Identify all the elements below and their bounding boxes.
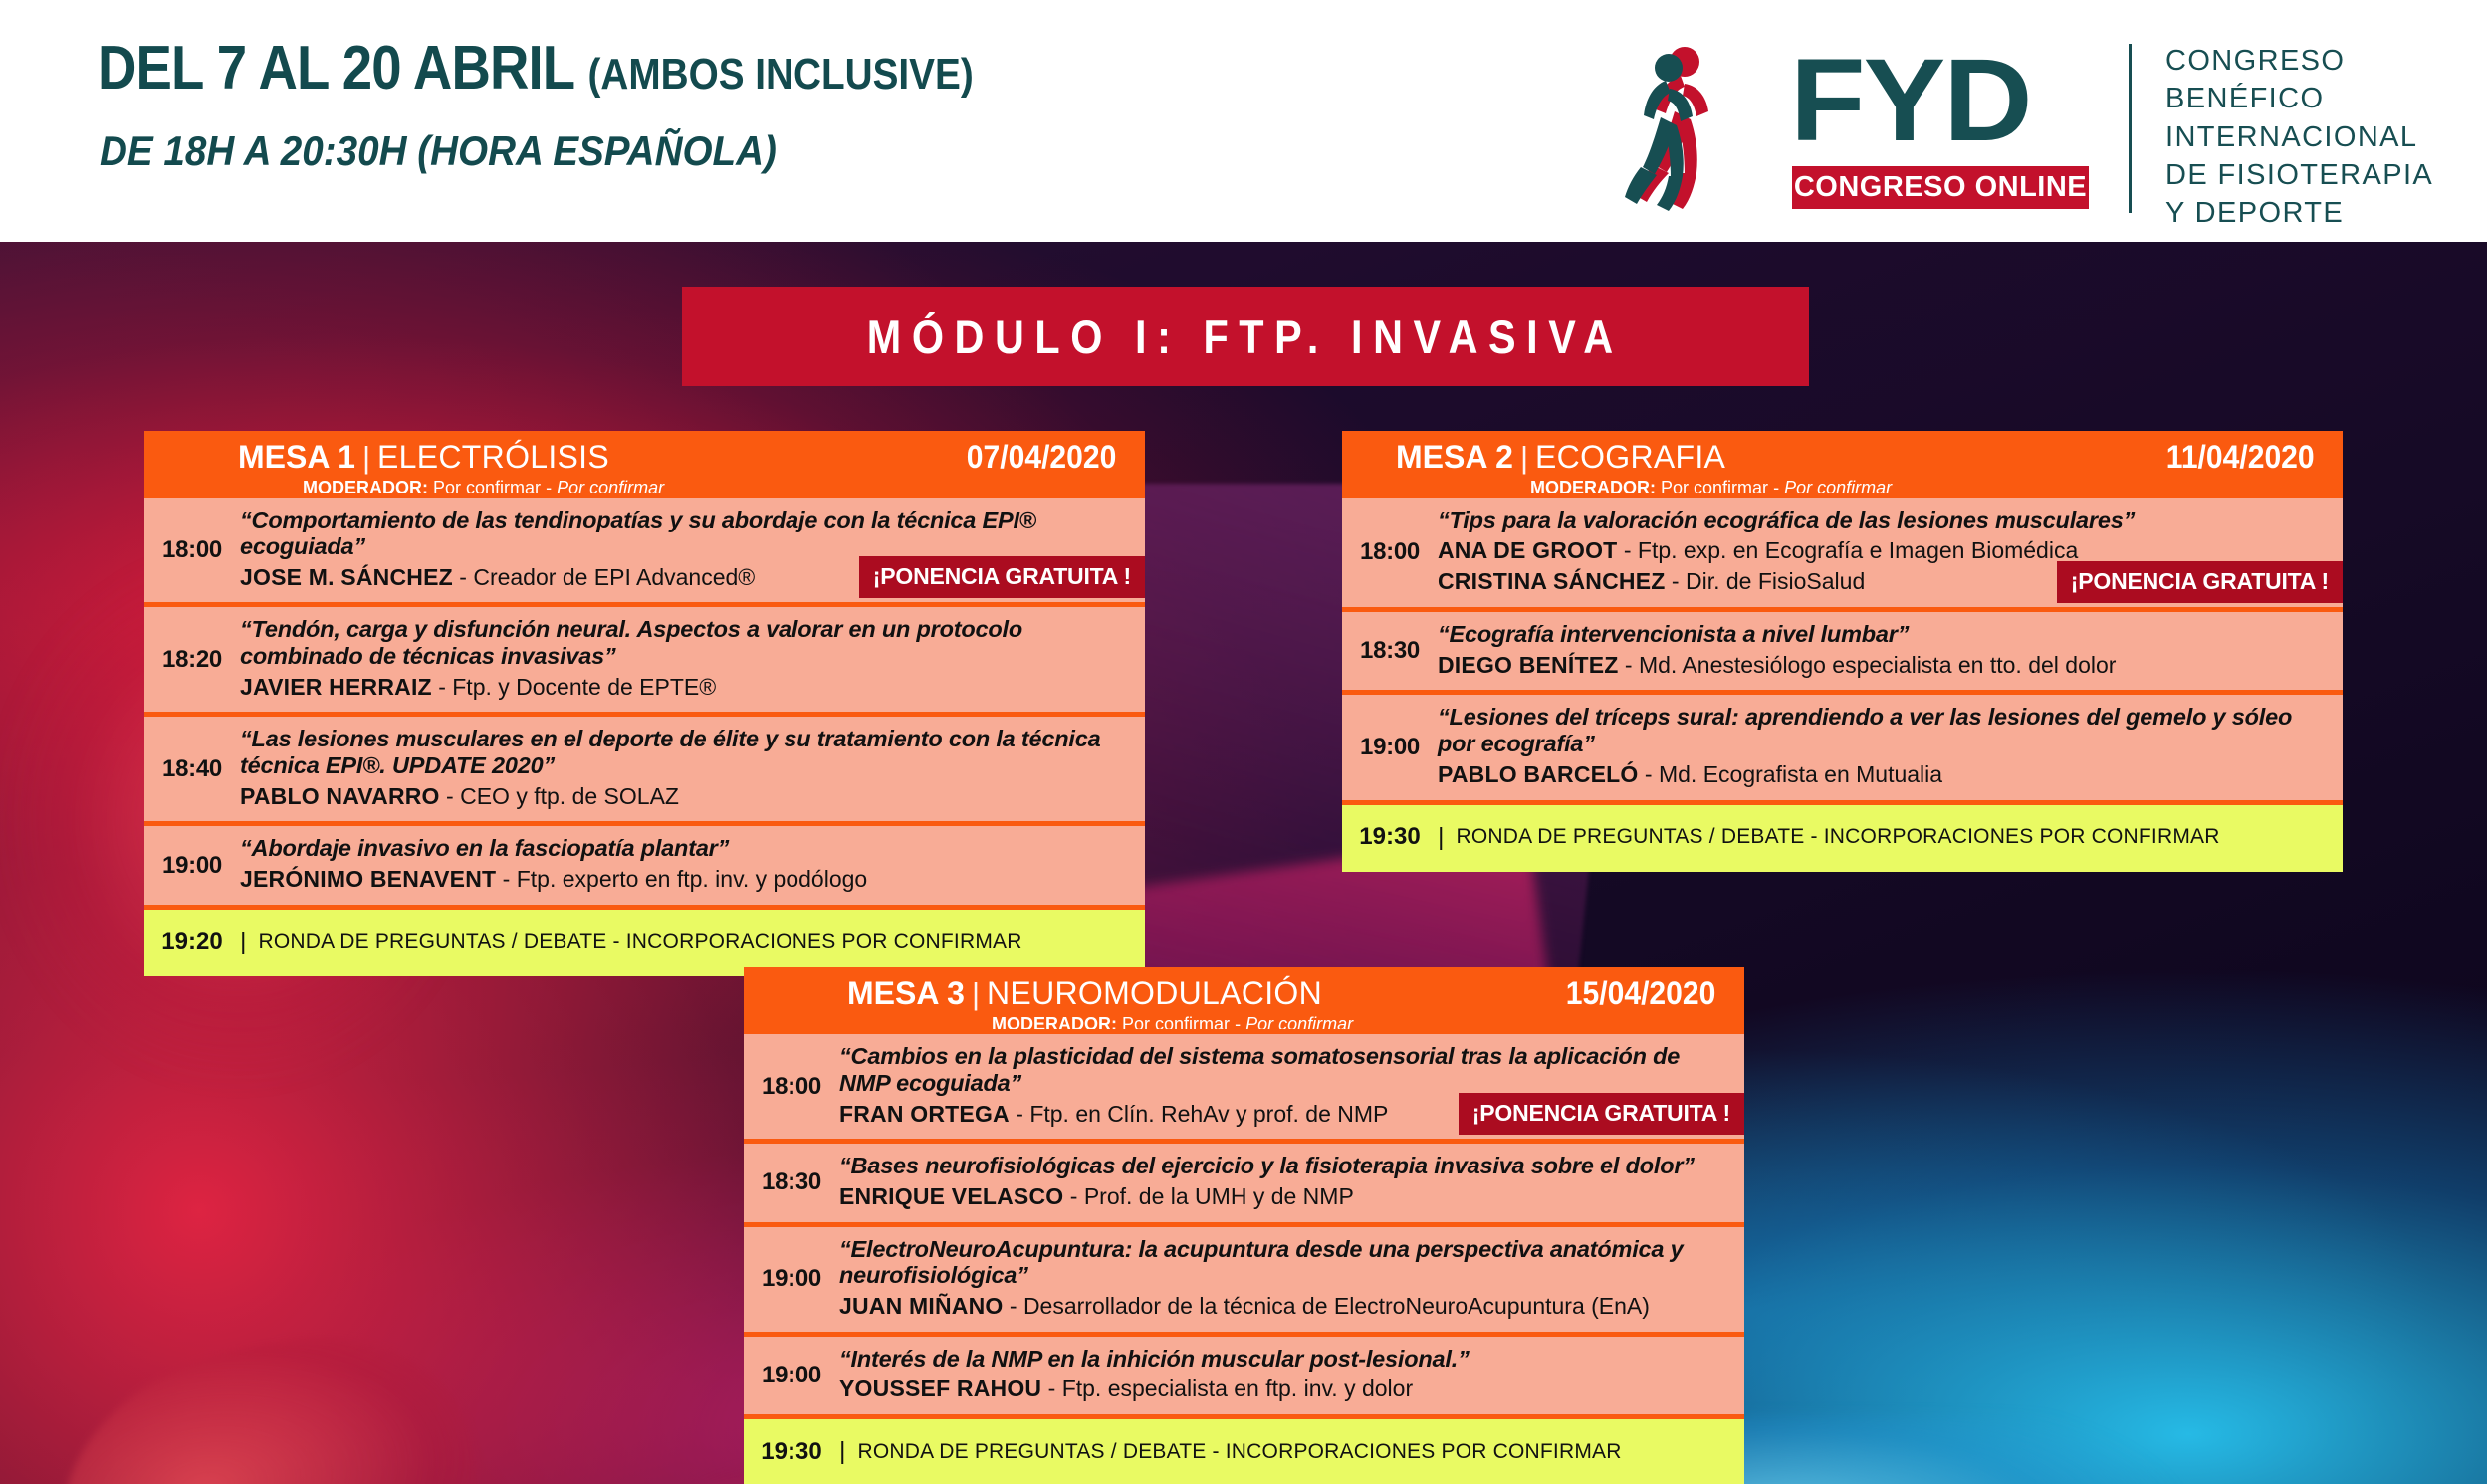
mesa-card-3: MESA 3|NEUROMODULACIÓN15/04/2020MODERADO… xyxy=(744,967,1744,1484)
logo-tagline-line: Y DEPORTE xyxy=(2165,194,2433,232)
session-row: 18:30“Ecografía intervencionista a nivel… xyxy=(1342,607,2343,690)
session-speaker: ENRIQUE VELASCO - Prof. de la UMH y de N… xyxy=(839,1183,1732,1211)
session-time: 18:30 xyxy=(1342,612,1438,690)
session-row: 18:00“Tips para la valoración ecográfica… xyxy=(1342,493,2343,607)
session-title: “Cambios en la plasticidad del sistema s… xyxy=(839,1043,1732,1097)
qa-row: 19:20|RONDA DE PREGUNTAS / DEBATE - INCO… xyxy=(144,905,1145,976)
mesa-divider: | xyxy=(362,440,370,475)
session-time: 19:00 xyxy=(1342,695,1438,799)
session-row: 19:00“ElectroNeuroAcupuntura: la acupunt… xyxy=(744,1222,1744,1332)
mesa-divider: | xyxy=(972,976,980,1011)
logo-tagline: CONGRESOBENÉFICOINTERNACIONALDE FISIOTER… xyxy=(2165,42,2433,232)
session-title: “Interés de la NMP en la inhición muscul… xyxy=(839,1346,1732,1373)
session-time: 19:00 xyxy=(144,826,240,904)
speaker-name: DIEGO BENÍTEZ xyxy=(1438,652,1619,678)
speaker-name: JOSE M. SÁNCHEZ xyxy=(240,564,453,590)
speaker-role: Creador de EPI Advanced® xyxy=(473,564,755,590)
session-body: “Interés de la NMP en la inhición muscul… xyxy=(839,1337,1744,1414)
speaker-dash: - xyxy=(1645,761,1653,787)
qa-time: 19:30 xyxy=(744,1438,839,1466)
speaker-dash: - xyxy=(1070,1183,1078,1209)
speaker-dash: - xyxy=(1048,1376,1056,1401)
speaker-role: CEO y ftp. de SOLAZ xyxy=(460,783,679,809)
speaker-role: Dir. de FisioSalud xyxy=(1686,568,1865,594)
free-talk-badge: ¡PONENCIA GRATUITA ! xyxy=(1459,1093,1744,1135)
session-time: 19:00 xyxy=(744,1337,839,1414)
speaker-role: Md. Ecografista en Mutualia xyxy=(1659,761,1942,787)
speaker-role: Prof. de la UMH y de NMP xyxy=(1084,1183,1354,1209)
qa-time: 19:30 xyxy=(1342,823,1438,851)
logo-tagline-line: INTERNACIONAL xyxy=(2165,118,2433,156)
session-title: “Tips para la valoración ecográfica de l… xyxy=(1438,507,2331,533)
speaker-role: Md. Anestesiólogo especialista en tto. d… xyxy=(1639,652,2116,678)
session-title: “Abordaje invasivo en la fasciopatía pla… xyxy=(240,835,1133,862)
mesa-number: MESA 1 xyxy=(238,439,355,475)
session-row: 18:30“Bases neurofisiológicas del ejerci… xyxy=(744,1139,1744,1221)
free-talk-badge: ¡PONENCIA GRATUITA ! xyxy=(859,556,1145,598)
event-dates: DEL 7 AL 20 ABRIL (AMBOS INCLUSIVE) xyxy=(98,38,974,100)
session-row: 18:00“Comportamiento de las tendinopatía… xyxy=(144,493,1145,602)
logo-divider xyxy=(2129,44,2132,213)
session-row: 18:20“Tendón, carga y disfunción neural.… xyxy=(144,602,1145,712)
running-shoe-decor xyxy=(38,1313,500,1484)
event-time: DE 18H A 20:30H (HORA ESPAÑOLA) xyxy=(100,127,777,175)
qa-time: 19:20 xyxy=(144,928,240,955)
speaker-role: Ftp. y Docente de EPTE® xyxy=(452,674,716,700)
logo-tagline-line: CONGRESO xyxy=(2165,42,2433,80)
session-row: 18:00“Cambios en la plasticidad del sist… xyxy=(744,1029,1744,1139)
speaker-dash: - xyxy=(1010,1293,1017,1319)
speaker-name: PABLO BARCELÓ xyxy=(1438,761,1639,787)
mesa-header: MESA 2|ECOGRAFIA11/04/2020MODERADOR: Por… xyxy=(1342,431,2343,493)
qa-separator: | xyxy=(240,928,247,956)
qa-separator: | xyxy=(839,1437,846,1466)
speaker-dash: - xyxy=(1625,652,1633,678)
speaker-name: ENRIQUE VELASCO xyxy=(839,1183,1063,1209)
session-body: “Abordaje invasivo en la fasciopatía pla… xyxy=(240,826,1145,904)
session-time: 18:20 xyxy=(144,607,240,712)
session-title: “Lesiones del tríceps sural: aprendiendo… xyxy=(1438,704,2331,757)
session-speaker: PABLO NAVARRO - CEO y ftp. de SOLAZ xyxy=(240,783,1133,811)
mesa-title: MESA 2|ECOGRAFIA xyxy=(1396,439,1725,476)
module-banner: MÓDULO I: FTP. INVASIVA xyxy=(682,287,1809,386)
speaker-role: Ftp. en Clín. RehAv y prof. de NMP xyxy=(1029,1101,1388,1127)
session-body: “Las lesiones musculares en el deporte d… xyxy=(240,717,1145,821)
speaker-role: Desarrollador de la técnica de ElectroNe… xyxy=(1023,1293,1650,1319)
session-speaker: DIEGO BENÍTEZ - Md. Anestesiólogo especi… xyxy=(1438,652,2331,680)
session-title: “Bases neurofisiológicas del ejercicio y… xyxy=(839,1153,1732,1179)
qa-row: 19:30|RONDA DE PREGUNTAS / DEBATE - INCO… xyxy=(744,1414,1744,1484)
mesa-card-2: MESA 2|ECOGRAFIA11/04/2020MODERADOR: Por… xyxy=(1342,431,2343,872)
session-title: “Las lesiones musculares en el deporte d… xyxy=(240,726,1133,779)
speaker-name: CRISTINA SÁNCHEZ xyxy=(1438,568,1666,594)
speaker-dash: - xyxy=(446,783,454,809)
mesa-header: MESA 3|NEUROMODULACIÓN15/04/2020MODERADO… xyxy=(744,967,1744,1029)
mesa-topic: NEUROMODULACIÓN xyxy=(987,975,1322,1011)
session-row: 19:00“Abordaje invasivo en la fasciopatí… xyxy=(144,821,1145,904)
mesa-header: MESA 1|ELECTRÓLISIS07/04/2020MODERADOR: … xyxy=(144,431,1145,493)
speaker-name: JUAN MIÑANO xyxy=(839,1293,1003,1319)
session-body: “ElectroNeuroAcupuntura: la acupuntura d… xyxy=(839,1227,1744,1332)
runner-icon xyxy=(1623,40,1772,214)
mesa-card-1: MESA 1|ELECTRÓLISIS07/04/2020MODERADOR: … xyxy=(144,431,1145,976)
logo-subtitle: CONGRESO ONLINE xyxy=(1792,166,2089,209)
logo-wordmark: FYD xyxy=(1790,42,2031,159)
mesa-date: 15/04/2020 xyxy=(1566,975,1716,1012)
session-body: “Tendón, carga y disfunción neural. Aspe… xyxy=(240,607,1145,712)
module-banner-label: MÓDULO I: FTP. INVASIVA xyxy=(867,310,1624,364)
session-speaker: PABLO BARCELÓ - Md. Ecografista en Mutua… xyxy=(1438,761,2331,789)
qa-row: 19:30|RONDA DE PREGUNTAS / DEBATE - INCO… xyxy=(1342,800,2343,872)
session-speaker: JUAN MIÑANO - Desarrollador de la técnic… xyxy=(839,1293,1732,1321)
speaker-role: Ftp. especialista en ftp. inv. y dolor xyxy=(1062,1376,1413,1401)
session-row: 19:00“Interés de la NMP en la inhición m… xyxy=(744,1332,1744,1414)
speaker-dash: - xyxy=(1016,1101,1023,1127)
qa-text: RONDA DE PREGUNTAS / DEBATE - INCORPORAC… xyxy=(1457,825,2220,849)
session-speaker: YOUSSEF RAHOU - Ftp. especialista en ftp… xyxy=(839,1376,1732,1403)
mesa-title: MESA 3|NEUROMODULACIÓN xyxy=(847,975,1322,1012)
mesa-number: MESA 2 xyxy=(1396,439,1513,475)
free-talk-badge: ¡PONENCIA GRATUITA ! xyxy=(2057,561,2343,603)
qa-text: RONDA DE PREGUNTAS / DEBATE - INCORPORAC… xyxy=(858,1440,1622,1464)
speaker-dash: - xyxy=(1624,537,1632,563)
session-speaker: JERÓNIMO BENAVENT - Ftp. experto en ftp.… xyxy=(240,866,1133,894)
speaker-role: Ftp. exp. en Ecografía e Imagen Biomédic… xyxy=(1638,537,2078,563)
session-title: “Comportamiento de las tendinopatías y s… xyxy=(240,507,1133,560)
speaker-role: Ftp. experto en ftp. inv. y podólogo xyxy=(517,866,867,892)
session-speaker: JAVIER HERRAIZ - Ftp. y Docente de EPTE® xyxy=(240,674,1133,702)
session-time: 18:40 xyxy=(144,717,240,821)
event-dates-main: DEL 7 AL 20 ABRIL xyxy=(98,34,573,103)
mesa-date: 11/04/2020 xyxy=(2165,439,2314,476)
session-row: 18:40“Las lesiones musculares en el depo… xyxy=(144,712,1145,821)
speaker-dash: - xyxy=(1672,568,1680,594)
speaker-name: JERÓNIMO BENAVENT xyxy=(240,866,496,892)
speaker-name: JAVIER HERRAIZ xyxy=(240,674,432,700)
logo-tagline-line: DE FISIOTERAPIA xyxy=(2165,156,2433,194)
session-body: “Ecografía intervencionista a nivel lumb… xyxy=(1438,612,2343,690)
session-body: “Lesiones del tríceps sural: aprendiendo… xyxy=(1438,695,2343,799)
speaker-dash: - xyxy=(459,564,467,590)
session-title: “ElectroNeuroAcupuntura: la acupuntura d… xyxy=(839,1236,1732,1290)
session-title: “Ecografía intervencionista a nivel lumb… xyxy=(1438,621,2331,648)
poster-root: DEL 7 AL 20 ABRIL (AMBOS INCLUSIVE) DE 1… xyxy=(0,0,2487,1484)
speaker-name: PABLO NAVARRO xyxy=(240,783,440,809)
session-time: 18:00 xyxy=(144,498,240,602)
mesa-topic: ELECTRÓLISIS xyxy=(377,439,609,475)
session-time: 18:00 xyxy=(1342,498,1438,607)
session-row: 19:00“Lesiones del tríceps sural: aprend… xyxy=(1342,690,2343,799)
header-bar: DEL 7 AL 20 ABRIL (AMBOS INCLUSIVE) DE 1… xyxy=(0,0,2487,242)
mesa-number: MESA 3 xyxy=(847,975,965,1011)
session-time: 19:00 xyxy=(744,1227,839,1332)
fyd-logo: FYD CONGRESO ONLINE CONGRESOBENÉFICOINTE… xyxy=(1623,22,2459,221)
event-dates-suffix: (AMBOS INCLUSIVE) xyxy=(588,50,974,99)
speaker-name: FRAN ORTEGA xyxy=(839,1101,1010,1127)
qa-text: RONDA DE PREGUNTAS / DEBATE - INCORPORAC… xyxy=(259,930,1022,954)
speaker-name: ANA DE GROOT xyxy=(1438,537,1617,563)
session-title: “Tendón, carga y disfunción neural. Aspe… xyxy=(240,616,1133,670)
session-time: 18:30 xyxy=(744,1144,839,1221)
mesa-topic: ECOGRAFIA xyxy=(1535,439,1725,475)
session-time: 18:00 xyxy=(744,1034,839,1139)
session-body: “Bases neurofisiológicas del ejercicio y… xyxy=(839,1144,1744,1221)
speaker-dash: - xyxy=(438,674,446,700)
qa-separator: | xyxy=(1438,823,1445,852)
logo-tagline-line: BENÉFICO xyxy=(2165,80,2433,117)
mesa-title: MESA 1|ELECTRÓLISIS xyxy=(238,439,609,476)
speaker-name: YOUSSEF RAHOU xyxy=(839,1376,1041,1401)
speaker-dash: - xyxy=(503,866,511,892)
mesa-divider: | xyxy=(1520,440,1528,475)
mesa-date: 07/04/2020 xyxy=(967,439,1117,476)
